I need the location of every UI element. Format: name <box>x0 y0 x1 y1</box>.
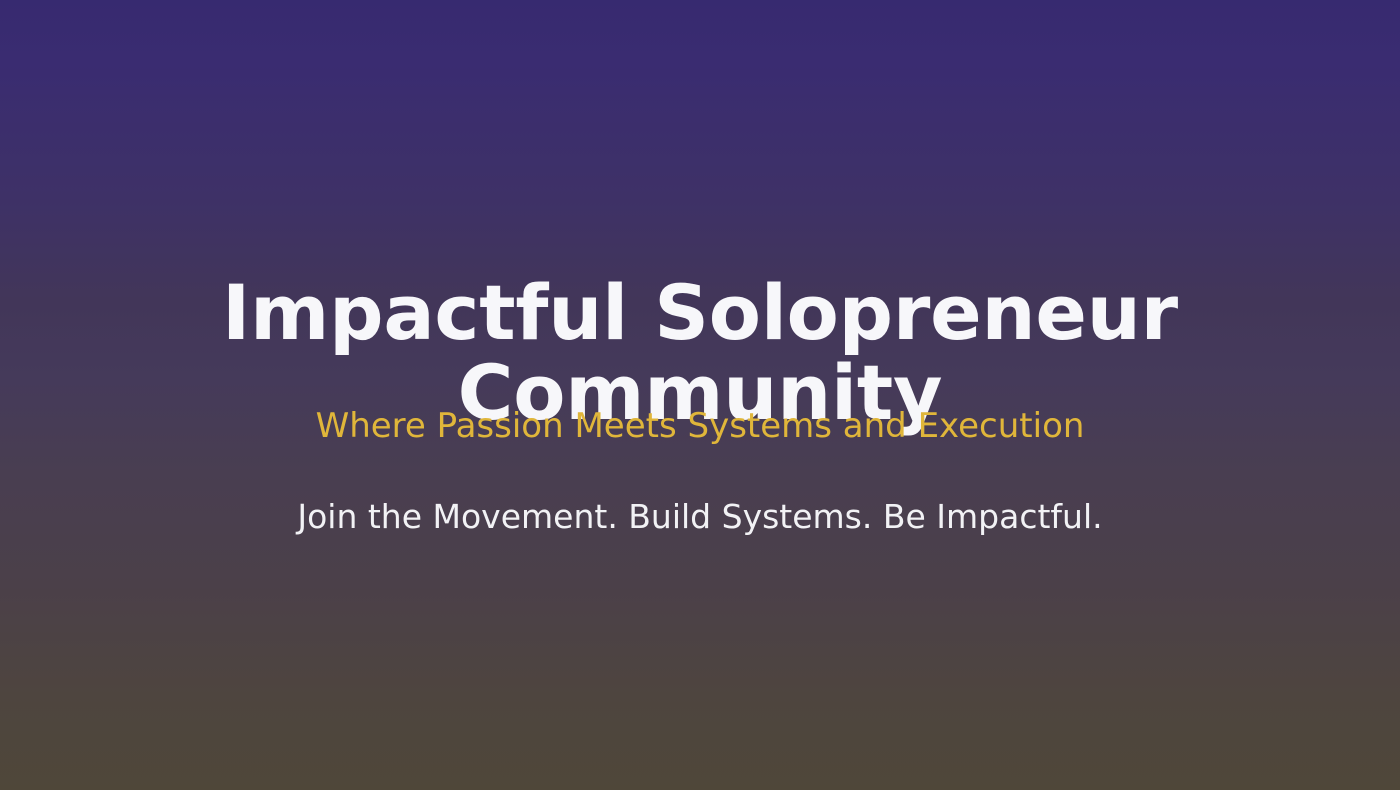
hero-banner: Impactful Solopreneur Community Where Pa… <box>0 0 1400 790</box>
hero-tagline: Join the Movement. Build Systems. Be Imp… <box>0 497 1400 537</box>
hero-subtitle: Where Passion Meets Systems and Executio… <box>0 406 1400 447</box>
